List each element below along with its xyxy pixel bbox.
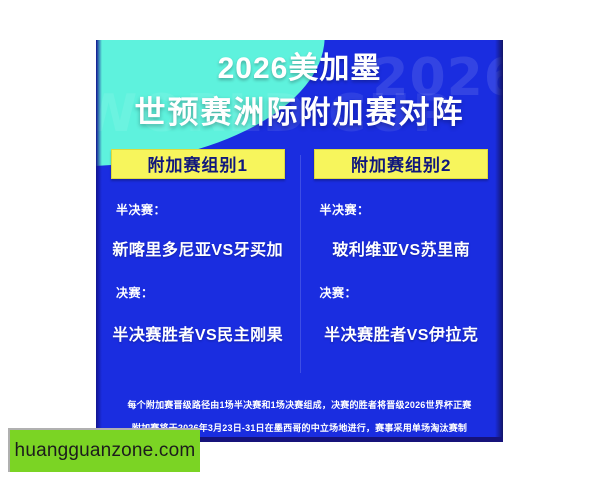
- group-1-final-match: 半决赛胜者VS民主刚果: [106, 321, 290, 345]
- group-1-semifinal-match: 新喀里多尼亚VS牙买加: [106, 236, 290, 260]
- group-2-semifinal-label: 半决赛：: [310, 201, 494, 218]
- group-1-final-label: 决赛：: [106, 284, 290, 301]
- group-2-banner: 附加赛组别2: [314, 149, 488, 179]
- poster-title-main: 2026美加墨: [96, 52, 503, 85]
- site-watermark: huangguanzone.com: [8, 428, 200, 472]
- watermark-text: huangguanzone.com: [15, 440, 196, 462]
- title-block: 2026美加墨 世预赛洲际附加赛对阵: [96, 40, 503, 131]
- playoff-group-1: 附加赛组别1 半决赛： 新喀里多尼亚VS牙买加 决赛： 半决赛胜者VS民主刚果: [96, 149, 300, 377]
- poster-title-subtitle: 世预赛洲际附加赛对阵: [96, 95, 503, 131]
- group-1-semifinal-label: 半决赛：: [106, 201, 290, 218]
- group-2-final-match: 半决赛胜者VS伊拉克: [310, 321, 494, 345]
- group-2-semifinal-match: 玻利维亚VS苏里南: [310, 236, 494, 260]
- tournament-poster: WORLD CUP 2026 2026美加墨 世预赛洲际附加赛对阵 附加赛组别1…: [96, 40, 503, 442]
- group-2-final-label: 决赛：: [310, 284, 494, 301]
- playoff-group-2: 附加赛组别2 半决赛： 玻利维亚VS苏里南 决赛： 半决赛胜者VS伊拉克: [300, 149, 504, 377]
- playoff-columns: 附加赛组别1 半决赛： 新喀里多尼亚VS牙买加 决赛： 半决赛胜者VS民主刚果 …: [96, 149, 503, 377]
- group-1-banner: 附加赛组别1: [111, 149, 285, 179]
- footer-note-line-1: 每个附加赛晋级路径由1场半决赛和1场决赛组成，决赛的胜者将晋级2026世界杯正赛: [96, 401, 503, 411]
